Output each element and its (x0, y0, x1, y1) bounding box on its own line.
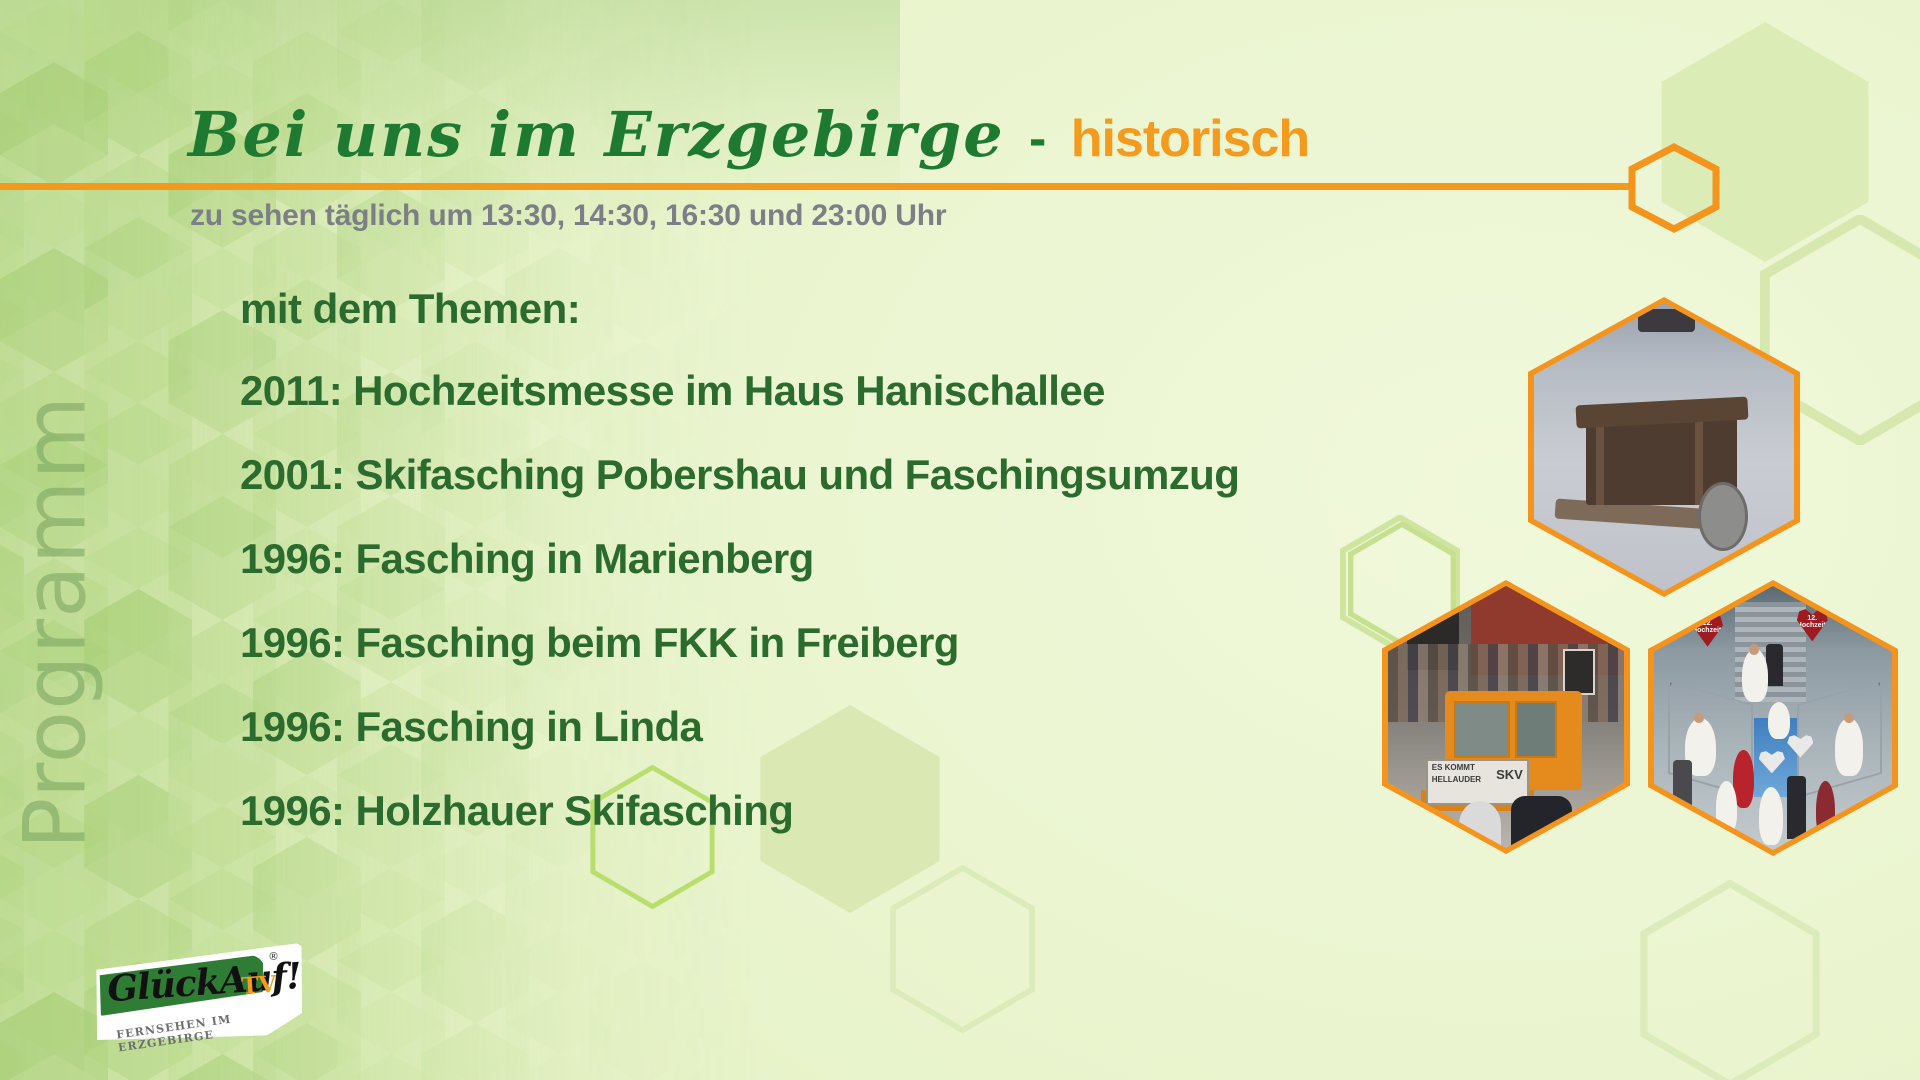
honeycomb-cell (421, 1023, 529, 1080)
bride (1759, 787, 1783, 845)
groom (1766, 644, 1783, 686)
header-divider-rule (0, 183, 1634, 190)
honeycomb-cell (0, 0, 108, 62)
slide-root: Bei uns im Erzgebirge - historisch zu se… (0, 0, 1920, 1080)
honeycomb-cell (0, 1023, 24, 1080)
honeycomb-cell (421, 0, 529, 93)
list-item: 2001: Skifasching Pobershau und Fasching… (240, 451, 1300, 499)
orange-hexagon-icon (1628, 143, 1720, 233)
honeycomb-cell (0, 155, 24, 279)
honeycomb-cell (84, 155, 192, 279)
glueckauf-tv-logo[interactable]: GlückAuf! TV ® FERNSEHEN IM ERZGEBIRGE (89, 943, 310, 1048)
honeycomb-cell (758, 961, 866, 1080)
hexagon-photo-clip: ES KOMMT HELLAUDER SKV (1388, 586, 1624, 848)
list-item: 1996: Fasching beim FKK in Freiberg (240, 619, 1300, 667)
honeycomb-cell (0, 0, 108, 124)
honeycomb-cell (253, 0, 361, 93)
page-title: Bei uns im Erzgebirge - historisch (188, 100, 1309, 166)
list-item: 2011: Hochzeitsmesse im Haus Hanischalle… (240, 367, 1300, 415)
honeycomb-cell (421, 899, 529, 1023)
honeycomb-cell (168, 0, 276, 62)
bride-head (1844, 713, 1854, 724)
bride-head (1749, 644, 1759, 655)
sled-post-right (1695, 410, 1703, 505)
honeycomb-cell (0, 837, 24, 961)
list-item: 1996: Holzhauer Skifasching (240, 787, 1300, 835)
list-item: 1996: Fasching in Marienberg (240, 535, 1300, 583)
honeycomb-cell (674, 0, 782, 62)
bride (1742, 649, 1768, 702)
honeycomb-cell (84, 837, 192, 961)
honeycomb-cell (505, 0, 613, 62)
groom (1787, 776, 1806, 839)
honeycomb-cell (84, 0, 192, 93)
sidebar-vertical-label: Programm (5, 395, 105, 850)
honeycomb-cell (0, 217, 24, 341)
title-highlight-part: historisch (1071, 110, 1310, 168)
parade-sign-line2: HELLAUDER (1432, 775, 1481, 784)
foreground-hat (1459, 801, 1501, 848)
decorative-hexagon-outline (1640, 880, 1820, 1080)
registered-trademark-icon: ® (269, 950, 278, 963)
parade-sign-initials: SKV (1496, 767, 1523, 782)
honeycomb-cell (0, 186, 108, 310)
hexagon-photo-clip (1534, 303, 1794, 591)
honeycomb-cell (590, 899, 698, 1023)
honeycomb-cell (84, 279, 192, 403)
list-item: 1996: Fasching in Linda (240, 703, 1300, 751)
honeycomb-cell (674, 868, 782, 992)
honeycomb-cell (0, 899, 24, 1023)
honeycomb-cell (0, 279, 24, 403)
parade-truck-photo: ES KOMMT HELLAUDER SKV (1382, 580, 1630, 854)
bride (1768, 702, 1789, 739)
parade-sign-line1: ES KOMMT (1432, 763, 1475, 772)
sled-wheel (1698, 482, 1748, 551)
title-script-part: Bei uns im Erzgebirge (188, 98, 1005, 171)
snow-sled-photo (1528, 297, 1800, 597)
honeycomb-cell (0, 31, 24, 155)
parade-scene: ES KOMMT HELLAUDER SKV (1388, 586, 1624, 848)
honeycomb-cell (505, 868, 613, 992)
honeycomb-cell (590, 961, 698, 1080)
honeycomb-cell (758, 899, 866, 1023)
honeycomb-cell (674, 1054, 782, 1080)
parade-sign: ES KOMMT HELLAUDER SKV (1426, 759, 1529, 805)
honeycomb-cell (505, 930, 613, 1054)
loudspeaker (1563, 649, 1595, 695)
honeycomb-cell (758, 0, 866, 93)
broadcast-times: zu sehen täglich um 13:30, 14:30, 16:30 … (190, 199, 946, 233)
wedding-fair-photo: 12. Hochzeitsmesse 12. Hochzeitsmesse (1648, 580, 1898, 856)
honeycomb-cell (0, 93, 24, 217)
honeycomb-cell (421, 961, 529, 1080)
hexagon-photo-clip: 12. Hochzeitsmesse 12. Hochzeitsmesse (1654, 586, 1892, 850)
bride-head (1694, 713, 1704, 724)
snow-scene (1534, 303, 1794, 591)
honeycomb-cell (590, 1023, 698, 1080)
decorative-hexagon-outline (890, 865, 1035, 1033)
honeycomb-cell (84, 31, 192, 155)
honeycomb-cell (505, 1054, 613, 1080)
bride (1835, 718, 1864, 776)
honeycomb-cell (84, 217, 192, 341)
truck-side-window (1515, 701, 1557, 757)
title-dash: - (1023, 110, 1052, 168)
honeycomb-cell (0, 1054, 108, 1080)
guest (1673, 760, 1692, 829)
honeycomb-cell (0, 62, 108, 186)
honeycomb-cell (0, 248, 108, 372)
honeycomb-cell (337, 1054, 445, 1080)
honeycomb-cell (590, 0, 698, 93)
honeycomb-cell (337, 868, 445, 992)
topics-lead: mit dem Themen: (240, 285, 1300, 333)
honeycomb-cell (505, 992, 613, 1080)
truck-windshield (1454, 701, 1510, 757)
honeycomb-cell (0, 961, 24, 1080)
topics-list: mit dem Themen: 2011: Hochzeitsmesse im … (240, 285, 1300, 871)
honeycomb-cell (337, 992, 445, 1080)
wedding-scene: 12. Hochzeitsmesse 12. Hochzeitsmesse (1654, 586, 1892, 850)
honeycomb-cell (674, 992, 782, 1080)
honeycomb-cell (337, 0, 445, 62)
logo-tv-text: TV (241, 971, 278, 1000)
honeycomb-cell (674, 930, 782, 1054)
honeycomb-cell (758, 1023, 866, 1080)
honeycomb-cell (337, 930, 445, 1054)
honeycomb-cell (84, 93, 192, 217)
honeycomb-cell (168, 1054, 276, 1080)
